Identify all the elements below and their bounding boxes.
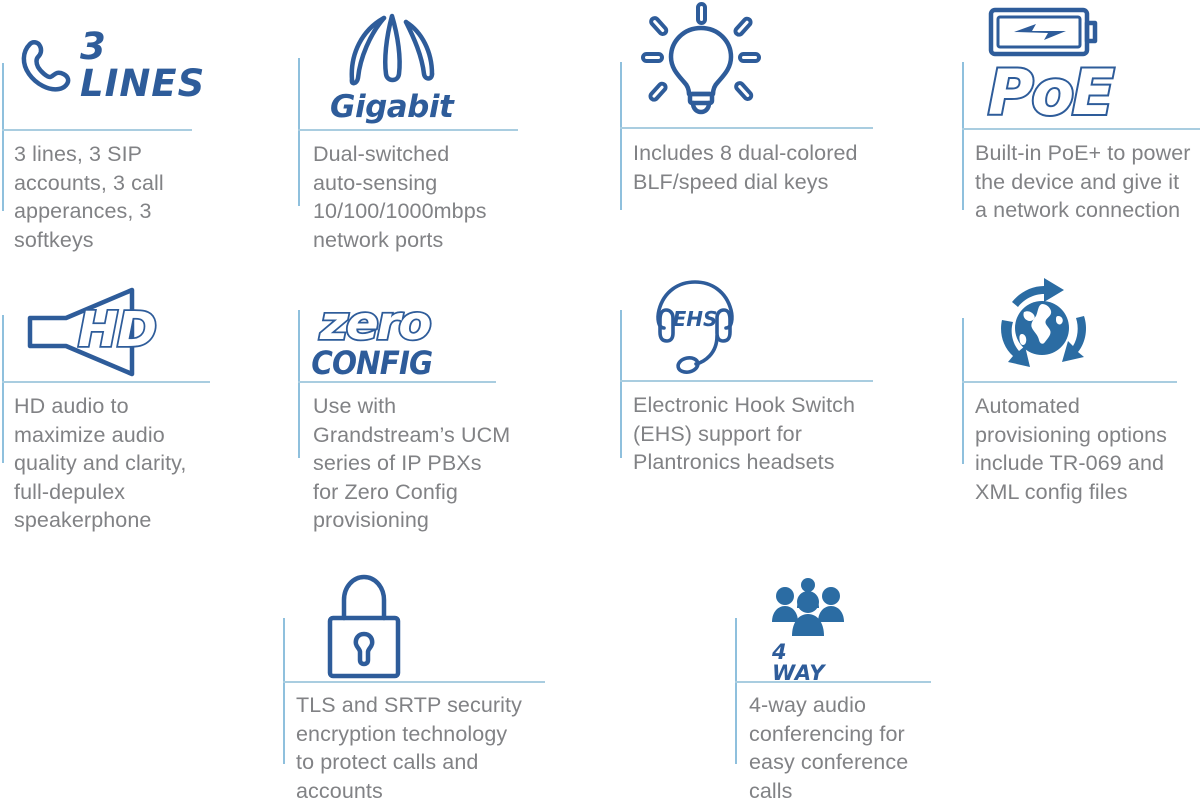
wordmark-lines: 3 LINES bbox=[80, 28, 205, 102]
wordmark-gigabit: Gigabit bbox=[330, 92, 453, 123]
wordmark-poe: PoE bbox=[988, 62, 1112, 124]
people-group-icon bbox=[772, 578, 844, 636]
vertical-rule bbox=[962, 318, 964, 464]
feature-description: 3 lines, 3 SIP accounts, 3 call apperanc… bbox=[14, 140, 204, 254]
speedometer-icon bbox=[340, 8, 444, 86]
feature-description: Automated provisioning options include T… bbox=[975, 392, 1190, 506]
lightbulb-icon bbox=[640, 4, 762, 116]
horizontal-rule bbox=[283, 681, 545, 683]
horizontal-rule bbox=[962, 381, 1177, 383]
vertical-rule bbox=[735, 618, 737, 764]
vertical-rule bbox=[620, 62, 622, 210]
feature-description: Dual-switched auto-sensing 10/100/1000mb… bbox=[313, 140, 543, 254]
phone-handset-icon bbox=[16, 34, 74, 96]
vertical-rule bbox=[283, 618, 285, 764]
vertical-rule bbox=[298, 310, 300, 458]
feature-description: Built-in PoE+ to power the device and gi… bbox=[975, 139, 1200, 225]
feature-description: HD audio to maximize audio quality and c… bbox=[14, 392, 229, 535]
horizontal-rule bbox=[298, 129, 518, 131]
wordmark-hd: HD bbox=[78, 306, 156, 354]
vertical-rule bbox=[2, 315, 4, 463]
headset-icon: EHS bbox=[652, 278, 738, 374]
wordmark-4way: 4 WAY bbox=[772, 642, 844, 684]
horizontal-rule bbox=[2, 129, 192, 131]
feature-description: TLS and SRTP security encryption technol… bbox=[296, 691, 558, 805]
battery-bolt-icon bbox=[988, 6, 1100, 58]
horizontal-rule bbox=[2, 381, 210, 383]
globe-refresh-icon bbox=[988, 276, 1096, 380]
vertical-rule bbox=[962, 62, 964, 210]
feature-grid: 3 LINES 3 lines, 3 SIP accounts, 3 call … bbox=[0, 0, 1200, 792]
horizontal-rule bbox=[620, 127, 873, 129]
feature-description: Use with Grandstream’s UCM series of IP … bbox=[313, 392, 533, 535]
vertical-rule bbox=[2, 63, 4, 211]
horizontal-rule bbox=[620, 380, 873, 382]
vertical-rule bbox=[298, 58, 300, 206]
wordmark-config: CONFIG bbox=[311, 347, 432, 379]
svg-text:EHS: EHS bbox=[673, 307, 718, 331]
padlock-icon bbox=[325, 572, 403, 680]
feature-description: 4-way audio conferencing for easy confer… bbox=[749, 691, 945, 805]
wordmark-zero: zero bbox=[320, 300, 429, 346]
feature-description: Electronic Hook Switch (EHS) support for… bbox=[633, 391, 893, 477]
zero-config-icon: zero CONFIG bbox=[306, 300, 438, 379]
feature-description: Includes 8 dual-colored BLF/speed dial k… bbox=[633, 139, 893, 196]
vertical-rule bbox=[620, 310, 622, 458]
